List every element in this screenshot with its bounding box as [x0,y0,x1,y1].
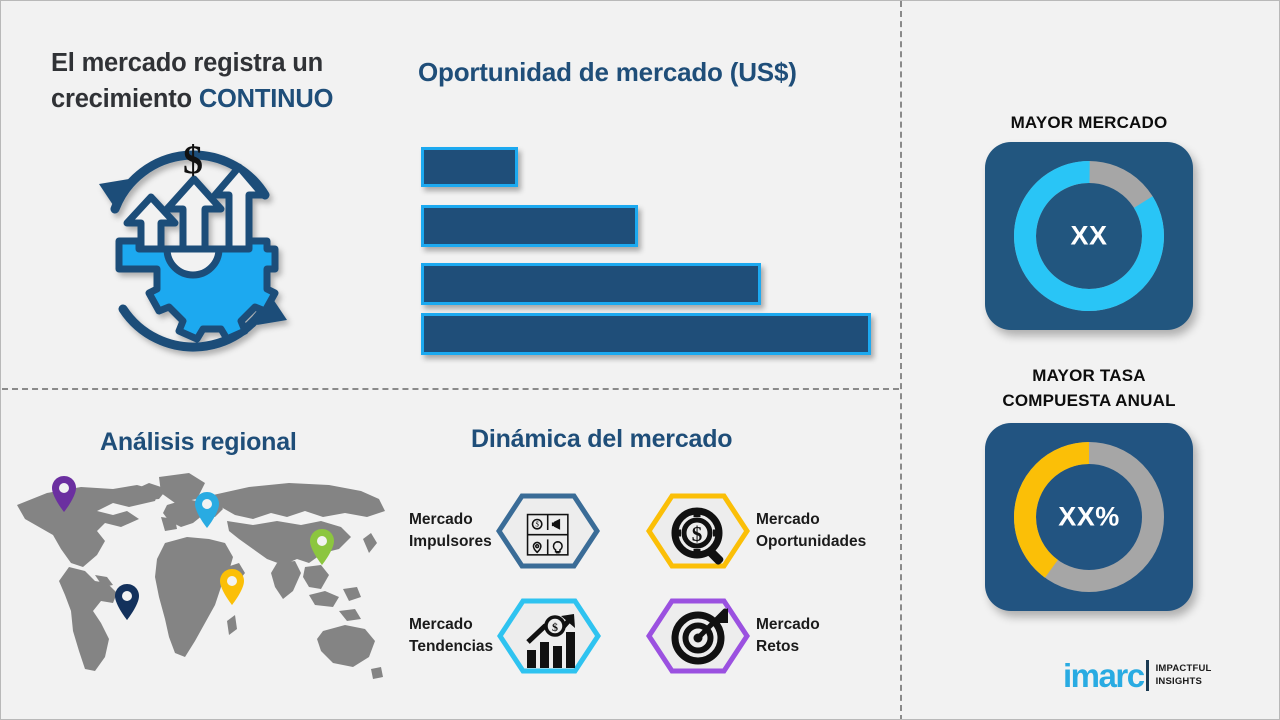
pin-africa [219,568,245,606]
imarc-logo: imarc IMPACTFUL INSIGHTS [1063,659,1212,692]
logo-wordmark: imarc [1063,659,1144,692]
label-line2: Tendencias [409,638,493,655]
kpi-title-line2: COMPUESTA ANUAL [1002,391,1175,410]
horizontal-divider [2,388,899,390]
bar-row [421,147,518,187]
dynamics-item-opportunities[interactable]: $ Mercado Oportunidades [646,493,866,569]
market-dynamics-title: Dinámica del mercado [471,425,732,454]
kpi-title-line1: MAYOR TASA [1032,366,1145,385]
growth-gear-arrows-icon: $ [73,137,313,367]
label-line2: Impulsores [409,533,492,550]
kpi-value-highest-cagr: XX% [985,502,1193,533]
pin-east-asia [309,528,335,566]
logo-tagline-line1: IMPACTFUL [1156,663,1212,674]
logo-tagline-line2: INSIGHTS [1156,676,1202,687]
world-map [9,471,393,699]
kpi-value-largest-market: XX [985,221,1193,252]
svg-text:$: $ [535,521,539,528]
pin-north-america [51,475,77,513]
headline-line2-accent: CONTINUO [199,85,333,113]
label-line1: Mercado [409,616,473,633]
label-line2: Retos [756,638,799,655]
logo-tagline: IMPACTFUL INSIGHTS [1156,663,1212,689]
bar-row [421,205,638,247]
hex-challenges[interactable] [646,598,750,674]
label-line1: Mercado [756,511,820,528]
dollar-symbol: $ [183,137,203,182]
label-line2: Oportunidades [756,533,866,550]
headline-line2-plain: crecimiento [51,85,199,113]
infographic-slide: El mercado registra un crecimiento CONTI… [0,0,1280,720]
kpi-card-highest-cagr: XX% [985,423,1193,611]
hex-opportunities[interactable]: $ [646,493,750,569]
market-opportunity-bar-chart [421,147,881,352]
bar-4 [421,313,871,355]
dynamics-label-opportunities: Mercado Oportunidades [756,509,866,553]
dynamics-item-drivers[interactable]: Mercado Impulsores $ [409,493,600,569]
bar-3 [421,263,761,305]
headline-line1: El mercado registra un [51,49,323,77]
label-line1: Mercado [756,616,820,633]
hex-drivers[interactable]: $ [496,493,600,569]
opportunity-title: Oportunidad de mercado (US$) [418,57,797,88]
regional-analysis-title: Análisis regional [100,428,297,457]
kpi-card-largest-market: XX [985,142,1193,330]
dynamics-label-drivers: Mercado Impulsores [409,509,492,553]
page-title: El mercado registra un crecimiento CONTI… [51,45,396,117]
kpi-title-largest-market: MAYOR MERCADO [959,111,1219,136]
pin-south-america [114,583,140,621]
bar-1 [421,147,518,187]
dynamics-label-trends: Mercado Tendencias [409,614,493,658]
dynamics-label-challenges: Mercado Retos [756,614,820,658]
bar-row [421,263,761,305]
label-line1: Mercado [409,511,473,528]
bar-2 [421,205,638,247]
hex-trends[interactable]: $ [497,598,601,674]
dynamics-item-challenges[interactable]: Mercado Retos [646,598,820,674]
kpi-title-highest-cagr: MAYOR TASA COMPUESTA ANUAL [959,364,1219,413]
svg-text:$: $ [552,620,558,634]
vertical-divider [900,1,902,720]
bar-row [421,313,871,355]
dynamics-item-trends[interactable]: Mercado Tendencias $ [409,598,601,674]
pin-europe [194,491,220,529]
logo-divider [1146,660,1149,691]
svg-text:$: $ [692,522,703,546]
